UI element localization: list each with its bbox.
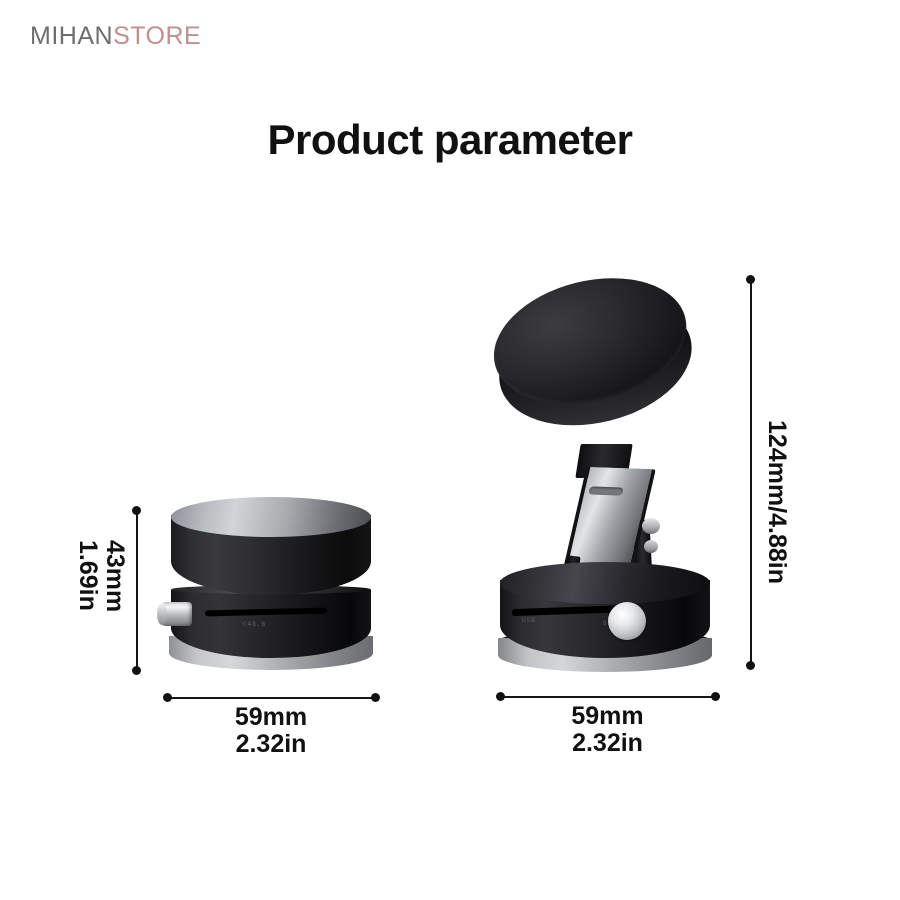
right-height-dimension-line [750, 279, 752, 665]
right-height-label: 124mm/4.88in [764, 420, 790, 584]
product-image-folded: C48.B [167, 497, 375, 672]
unfolded-power-knob [608, 602, 646, 640]
folded-lower-body [171, 590, 371, 658]
left-height-dimension-dot-top [132, 506, 141, 515]
unfolded-port-marking-left: USB [522, 617, 536, 624]
unfolded-base-top-surface [500, 562, 710, 604]
left-width-label: 59mm 2.32in [167, 704, 375, 758]
left-height-label-in: 1.69in [75, 540, 101, 611]
product-image-unfolded: USB ON [490, 272, 720, 677]
folded-side-knob-face [157, 603, 167, 625]
folded-top-disc [171, 497, 371, 537]
left-width-dimension-dot-left [163, 693, 172, 702]
left-height-dimension-line [136, 510, 138, 670]
brand-logo: MIHANSTORE [30, 22, 201, 51]
right-width-dimension-dot-left [496, 692, 505, 701]
folded-side-knob [160, 602, 192, 626]
left-width-dimension-dot-right [371, 693, 380, 702]
left-height-dimension-dot-bottom [132, 666, 141, 675]
unfolded-hinge-arm-slot [588, 486, 624, 495]
right-width-label-in: 2.32in [500, 730, 715, 757]
left-height-label-mm: 43mm [102, 540, 128, 612]
right-height-dimension-dot-bottom [746, 661, 755, 670]
left-width-label-in: 2.32in [167, 731, 375, 758]
right-width-dimension-dot-right [711, 692, 720, 701]
right-height-dimension-dot-top [746, 275, 755, 284]
brand-logo-primary: MIHAN [30, 22, 113, 50]
right-width-label-mm: 59mm [500, 703, 715, 730]
folded-port-marking: C48.B [243, 621, 266, 628]
right-width-label: 59mm 2.32in [500, 703, 715, 757]
left-width-dimension-line [167, 697, 375, 699]
left-width-label-mm: 59mm [167, 704, 375, 731]
page-title: Product parameter [0, 116, 900, 164]
right-width-dimension-line [500, 696, 715, 698]
unfolded-hinge-pin-upper [642, 518, 660, 534]
unfolded-hinge-pin-lower [644, 540, 658, 553]
product-parameter-page: MIHANSTORE Product parameter C48.B 43mm … [0, 0, 900, 900]
brand-logo-secondary: STORE [113, 22, 201, 50]
